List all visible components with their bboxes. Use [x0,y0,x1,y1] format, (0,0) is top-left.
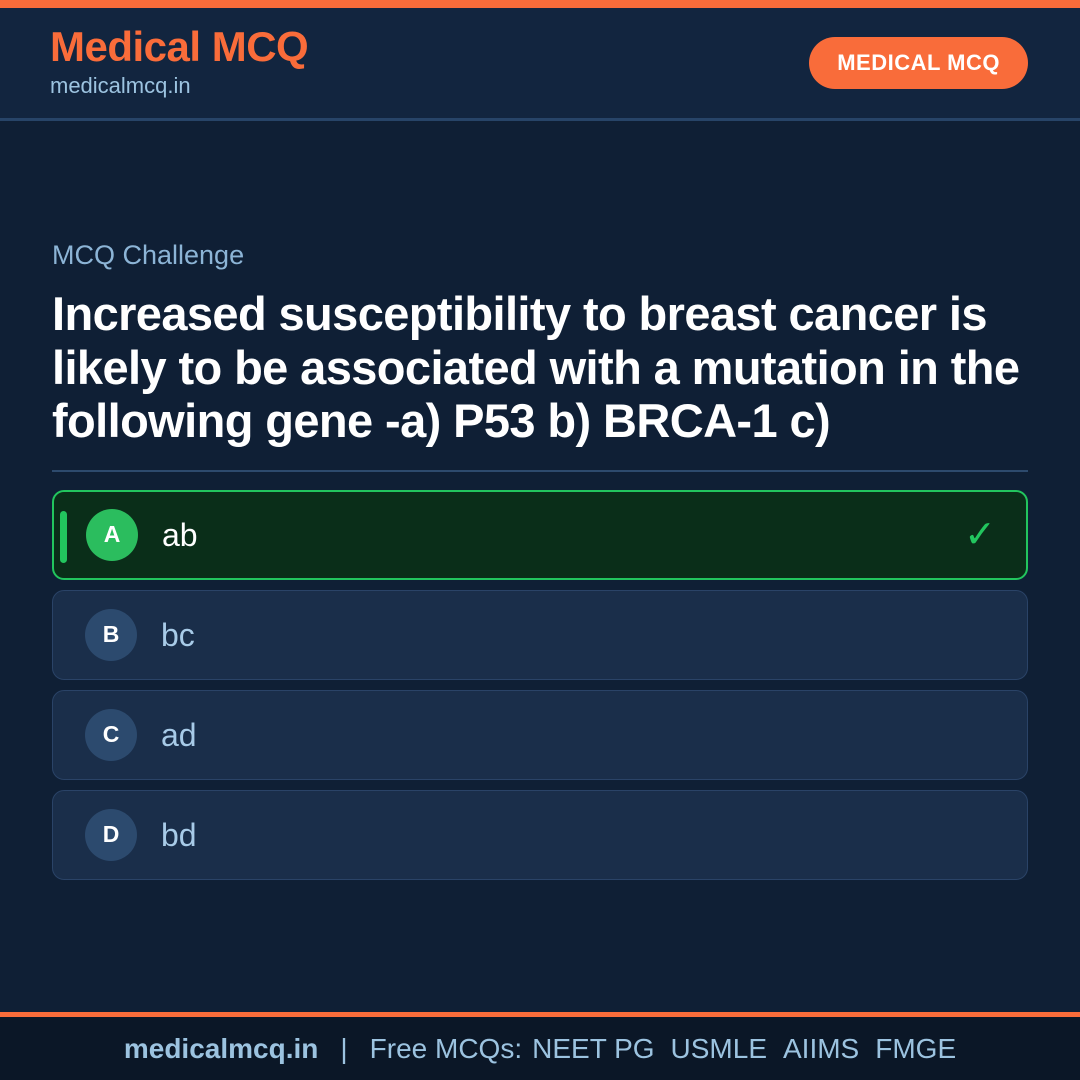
option-letter-badge: B [85,609,137,661]
option-label: bd [161,816,1003,854]
option-letter-badge: C [85,709,137,761]
option-label: bc [161,616,1003,654]
footer-exam-aiims: AIIMS [783,1033,859,1065]
footer-exam-neet-pg: NEET PG [532,1033,654,1065]
option-label: ab [162,516,964,554]
option-a[interactable]: A ab ✓ [52,490,1028,580]
eyebrow-label: MCQ Challenge [52,239,1028,271]
main-content: MCQ Challenge Increased susceptibility t… [0,121,1080,1012]
footer-site: medicalmcq.in [124,1033,319,1065]
option-letter-badge: A [86,509,138,561]
brand: Medical MCQ medicalmcq.in [50,25,308,101]
check-icon: ✓ [964,516,996,554]
mcq-card: Medical MCQ medicalmcq.in MEDICAL MCQ MC… [0,0,1080,1080]
brand-subtitle: medicalmcq.in [50,71,308,101]
footer: medicalmcq.in | Free MCQs: NEET PG USMLE… [0,1012,1080,1080]
question-divider [52,470,1028,472]
option-letter-badge: D [85,809,137,861]
footer-exam-usmle: USMLE [671,1033,767,1065]
footer-separator: | [340,1033,347,1065]
options-list: A ab ✓ B bc C ad D bd [52,490,1028,880]
option-d[interactable]: D bd [52,790,1028,880]
option-label: ad [161,716,1003,754]
correct-accent-bar [60,511,67,563]
header: Medical MCQ medicalmcq.in MEDICAL MCQ [0,8,1080,121]
option-b[interactable]: B bc [52,590,1028,680]
question-text: Increased susceptibility to breast cance… [52,287,1028,446]
brand-title: Medical MCQ [50,25,308,69]
option-c[interactable]: C ad [52,690,1028,780]
footer-exam-fmge: FMGE [875,1033,956,1065]
footer-label: Free MCQs: [370,1033,522,1065]
brand-badge: MEDICAL MCQ [809,37,1028,89]
top-accent-bar [0,0,1080,8]
footer-text: medicalmcq.in | Free MCQs: NEET PG USMLE… [124,1033,956,1065]
